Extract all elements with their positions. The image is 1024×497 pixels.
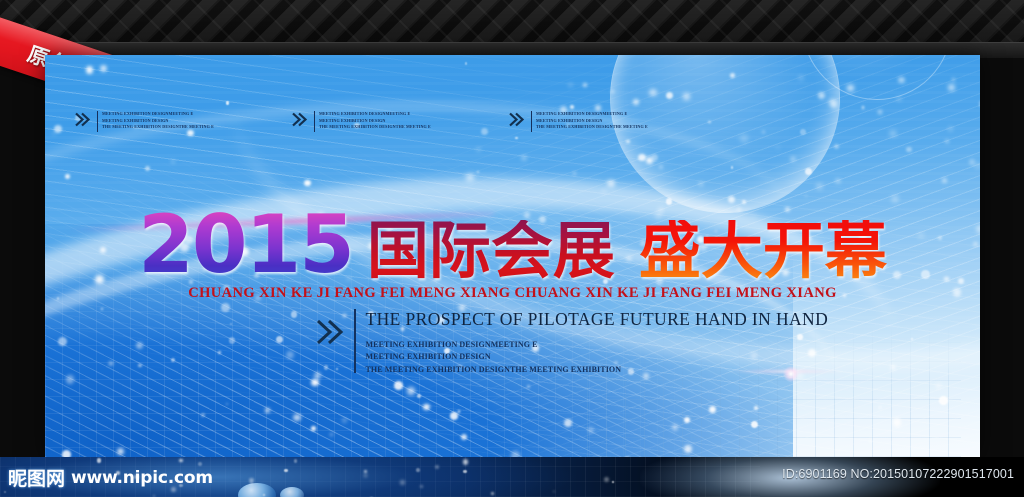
subtitle-line: THE MEETING EXHIBITION DESIGNTHE MEETING… bbox=[366, 364, 829, 376]
site-logo[interactable]: 昵图网 www.nipic.com bbox=[8, 464, 213, 491]
info-line: THE MEETING EXHIBITION DESIGNTHE MEETING… bbox=[102, 124, 214, 131]
globe-graphic-small bbox=[280, 487, 304, 497]
info-line: MEETING EXHIBITION DESIGN bbox=[319, 118, 431, 125]
title-main-cn: 国际会展 bbox=[367, 220, 615, 282]
footer-bar: 昵图网 www.nipic.com ID:6901169 NO:20150107… bbox=[0, 457, 1024, 497]
site-logo-url: www.nipic.com bbox=[71, 468, 213, 488]
info-block-lines: MEETING EXHIBITION DESIGNMEETING EMEETIN… bbox=[102, 111, 214, 131]
subtitle-heading: THE PROSPECT OF PILOTAGE FUTURE HAND IN … bbox=[366, 309, 829, 330]
site-logo-cn: 昵图网 bbox=[8, 464, 65, 491]
chevron-double-right-icon bbox=[317, 319, 347, 350]
info-block-3: MEETING EXHIBITION DESIGNMEETING EMEETIN… bbox=[509, 111, 648, 132]
chevron-double-right-icon bbox=[509, 112, 527, 132]
subtitle-line: MEETING EXHIBITION DESIGNMEETING E bbox=[366, 339, 829, 351]
info-block-2: MEETING EXHIBITION DESIGNMEETING EMEETIN… bbox=[292, 111, 431, 132]
main-title-row: 2015 国际会展 盛大开幕 bbox=[45, 208, 980, 282]
top-texture-strip bbox=[0, 0, 1024, 58]
info-line: MEETING EXHIBITION DESIGNMEETING E bbox=[102, 111, 214, 118]
info-block-divider bbox=[531, 111, 532, 132]
chevron-double-right-icon bbox=[75, 112, 93, 132]
info-line: THE MEETING EXHIBITION DESIGNTHE MEETING… bbox=[536, 124, 648, 131]
subtitle-divider bbox=[354, 309, 356, 373]
title-accent-cn: 盛大开幕 bbox=[639, 220, 887, 282]
info-block-divider bbox=[97, 111, 98, 132]
subtitle-lines: MEETING EXHIBITION DESIGNMEETING EMEETIN… bbox=[366, 339, 829, 376]
info-block-1: MEETING EXHIBITION DESIGNMEETING EMEETIN… bbox=[75, 111, 214, 132]
subtitle-block: THE PROSPECT OF PILOTAGE FUTURE HAND IN … bbox=[317, 309, 828, 376]
poster-artboard: MEETING EXHIBITION DESIGNMEETING EMEETIN… bbox=[45, 55, 980, 457]
info-line: MEETING EXHIBITION DESIGNMEETING E bbox=[319, 111, 431, 118]
title-year: 2015 bbox=[138, 208, 353, 282]
subtitle-line: MEETING EXHIBITION DESIGN bbox=[366, 351, 829, 363]
info-line: MEETING EXHIBITION DESIGN bbox=[102, 118, 214, 125]
chevron-double-right-icon bbox=[292, 112, 310, 132]
info-line: MEETING EXHIBITION DESIGNMEETING E bbox=[536, 111, 648, 118]
image-id-code: ID:6901169 NO:20150107222901517001 bbox=[782, 467, 1014, 481]
info-line: MEETING EXHIBITION DESIGN bbox=[536, 118, 648, 125]
top-info-row: MEETING EXHIBITION DESIGNMEETING EMEETIN… bbox=[75, 111, 935, 132]
title-pinyin: CHUANG XIN KE JI FANG FEI MENG XIANG CHU… bbox=[45, 285, 980, 302]
info-block-divider bbox=[314, 111, 315, 132]
info-line: THE MEETING EXHIBITION DESIGNTHE MEETING… bbox=[319, 124, 431, 131]
info-block-lines: MEETING EXHIBITION DESIGNMEETING EMEETIN… bbox=[319, 111, 431, 131]
info-block-lines: MEETING EXHIBITION DESIGNMEETING EMEETIN… bbox=[536, 111, 648, 131]
